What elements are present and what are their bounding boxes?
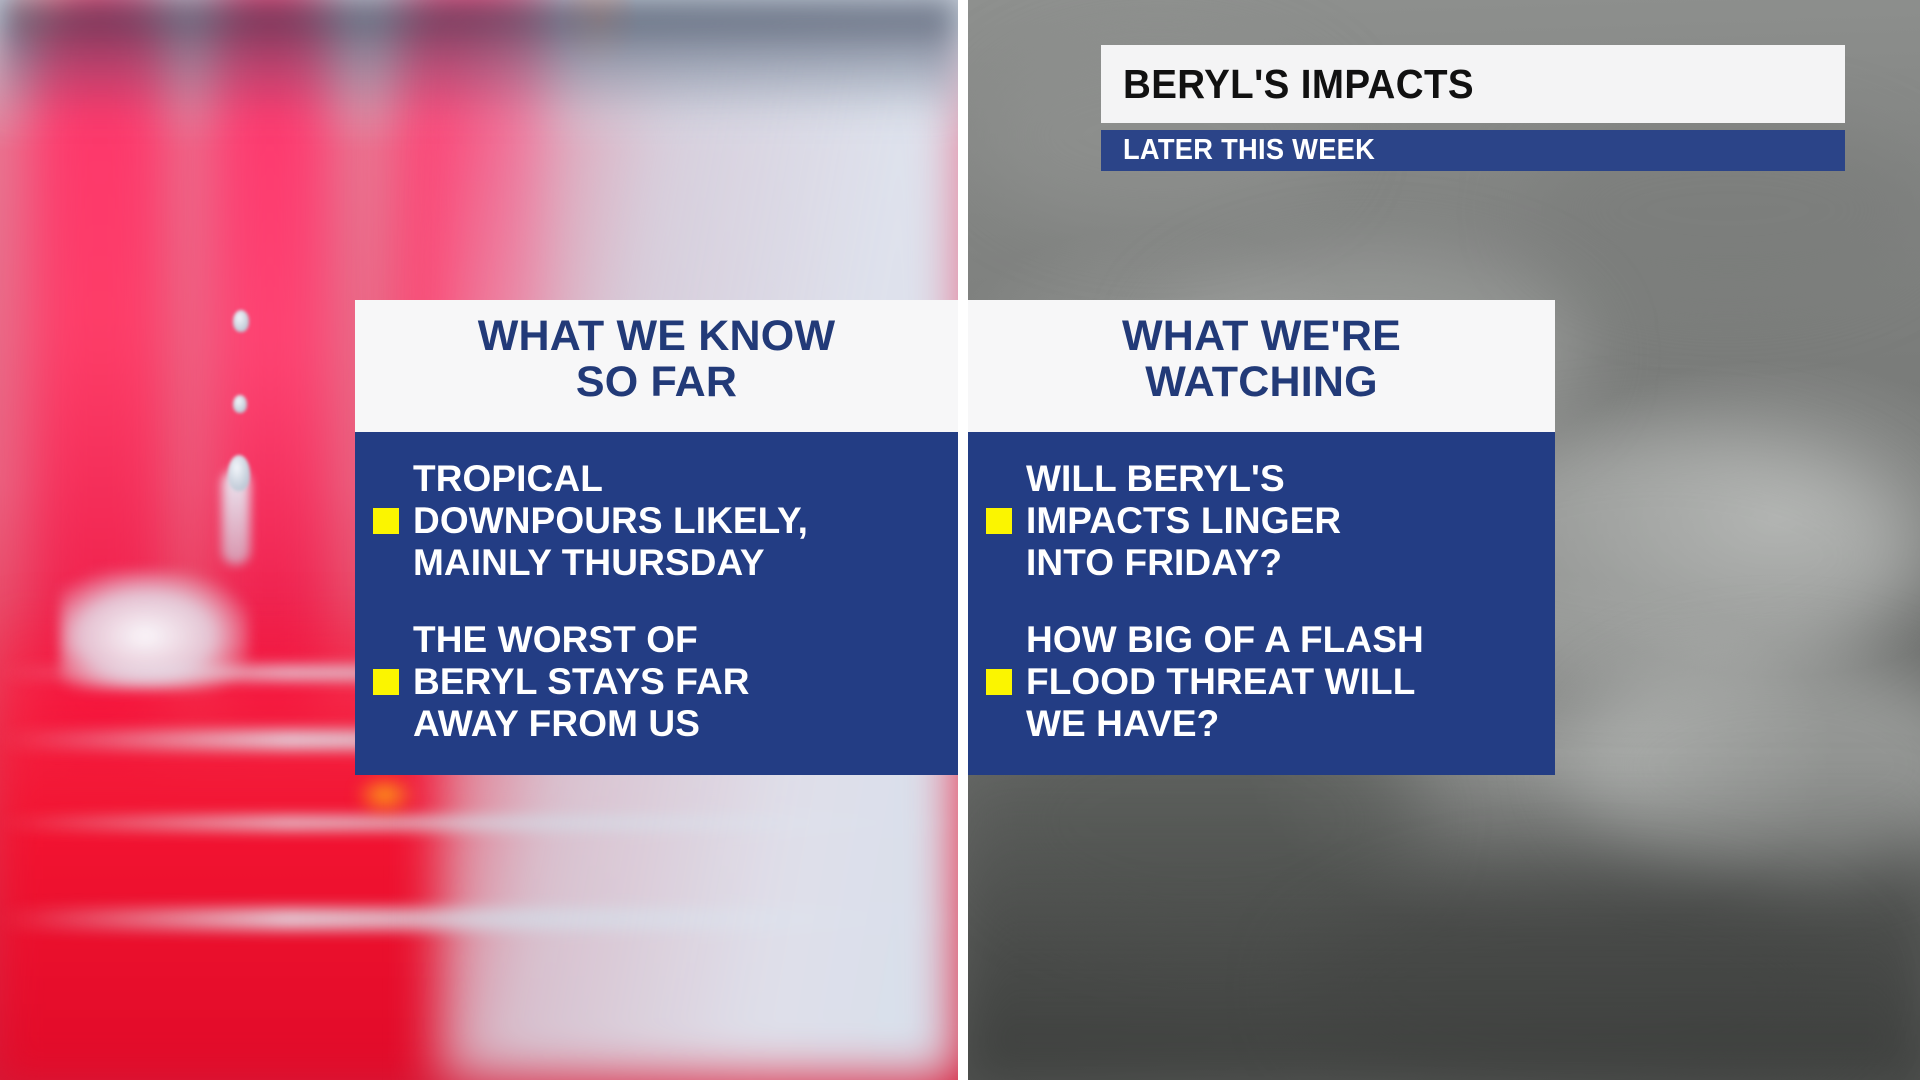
panel-what-we-know: WHAT WE KNOW SO FAR TROPICAL DOWNPOURS L… (355, 300, 958, 775)
bullet-text: HOW BIG OF A FLASH FLOOD THREAT WILL WE … (1026, 619, 1424, 744)
bullet-text: THE WORST OF BERYL STAYS FAR AWAY FROM U… (413, 619, 750, 744)
panel-what-were-watching: WHAT WE'RE WATCHING WILL BERYL'S IMPACTS… (968, 300, 1555, 775)
title-bar: BERYL'S IMPACTS (1101, 45, 1845, 123)
graphic-subtitle: LATER THIS WEEK (1123, 136, 1375, 165)
bullet-text: WILL BERYL'S IMPACTS LINGER INTO FRIDAY? (1026, 458, 1341, 583)
rain-droplet (233, 395, 247, 413)
panel-body-what-we-know: TROPICAL DOWNPOURS LIKELY, MAINLY THURSD… (355, 432, 958, 775)
dark-bottom-vignette (968, 760, 1920, 1080)
center-divider (958, 0, 968, 1080)
bullet-text: TROPICAL DOWNPOURS LIKELY, MAINLY THURSD… (413, 458, 808, 583)
amber-light-glow (355, 775, 415, 815)
subtitle-bar: LATER THIS WEEK (1101, 130, 1845, 171)
bullet-item: HOW BIG OF A FLASH FLOOD THREAT WILL WE … (986, 619, 1537, 744)
panel-heading-text: WHAT WE'RE WATCHING (978, 314, 1545, 405)
title-block: BERYL'S IMPACTS LATER THIS WEEK (1101, 45, 1845, 171)
rain-droplet (228, 455, 250, 491)
water-splash (60, 570, 250, 690)
yellow-square-bullet-icon (373, 669, 399, 695)
bullet-item: TROPICAL DOWNPOURS LIKELY, MAINLY THURSD… (373, 458, 940, 583)
yellow-square-bullet-icon (986, 669, 1012, 695)
panel-heading-text: WHAT WE KNOW SO FAR (365, 314, 948, 405)
graphic-title: BERYL'S IMPACTS (1123, 64, 1474, 105)
panel-body-what-were-watching: WILL BERYL'S IMPACTS LINGER INTO FRIDAY?… (968, 432, 1555, 775)
rain-droplet (233, 310, 249, 332)
yellow-square-bullet-icon (373, 508, 399, 534)
panel-header-what-were-watching: WHAT WE'RE WATCHING (968, 300, 1555, 432)
bullet-item: WILL BERYL'S IMPACTS LINGER INTO FRIDAY? (986, 458, 1537, 583)
weather-graphic: BERYL'S IMPACTS LATER THIS WEEK WHAT WE … (0, 0, 1920, 1080)
panel-header-what-we-know: WHAT WE KNOW SO FAR (355, 300, 958, 432)
dark-top-vignette (0, 0, 958, 120)
yellow-square-bullet-icon (986, 508, 1012, 534)
bullet-item: THE WORST OF BERYL STAYS FAR AWAY FROM U… (373, 619, 940, 744)
